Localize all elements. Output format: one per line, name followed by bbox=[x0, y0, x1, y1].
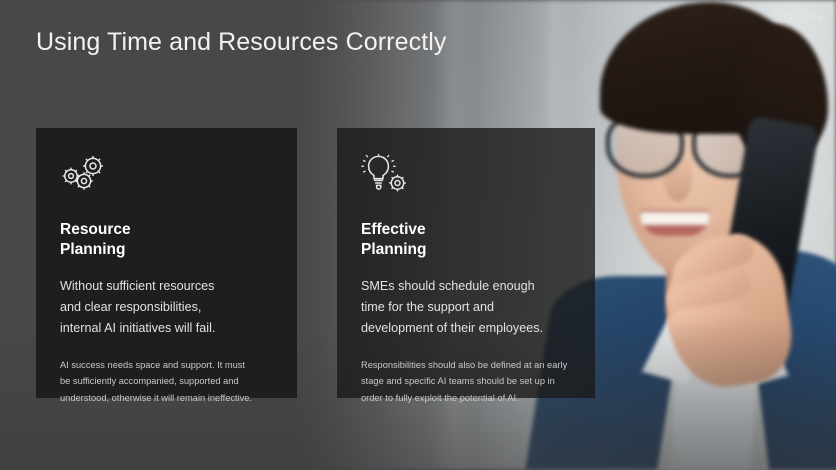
card-effective-planning[interactable]: Effective Planning SMEs should schedule … bbox=[337, 128, 595, 398]
gears-icon bbox=[60, 154, 273, 198]
slide-content: #D3294 Using Time and Resources Correctl… bbox=[0, 0, 836, 470]
card-heading: Resource Planning bbox=[60, 220, 273, 260]
card-resource-planning[interactable]: Resource Planning Without sufficient res… bbox=[36, 128, 297, 398]
card-body-text: Without sufficient resources and clear r… bbox=[60, 276, 273, 339]
card-heading: Effective Planning bbox=[361, 220, 571, 260]
lightbulb-gear-icon bbox=[361, 154, 571, 198]
card-note-text: Responsibilities should also be defined … bbox=[361, 357, 571, 406]
card-body-text: SMEs should schedule enough time for the… bbox=[361, 276, 571, 339]
cards-container: Resource Planning Without sufficient res… bbox=[0, 128, 836, 398]
slide: #D3294 Using Time and Resources Correctl… bbox=[0, 0, 836, 470]
card-note-text: AI success needs space and support. It m… bbox=[60, 357, 273, 406]
page-title: Using Time and Resources Correctly bbox=[36, 28, 447, 57]
slide-id-label: #D3294 bbox=[776, 10, 824, 25]
